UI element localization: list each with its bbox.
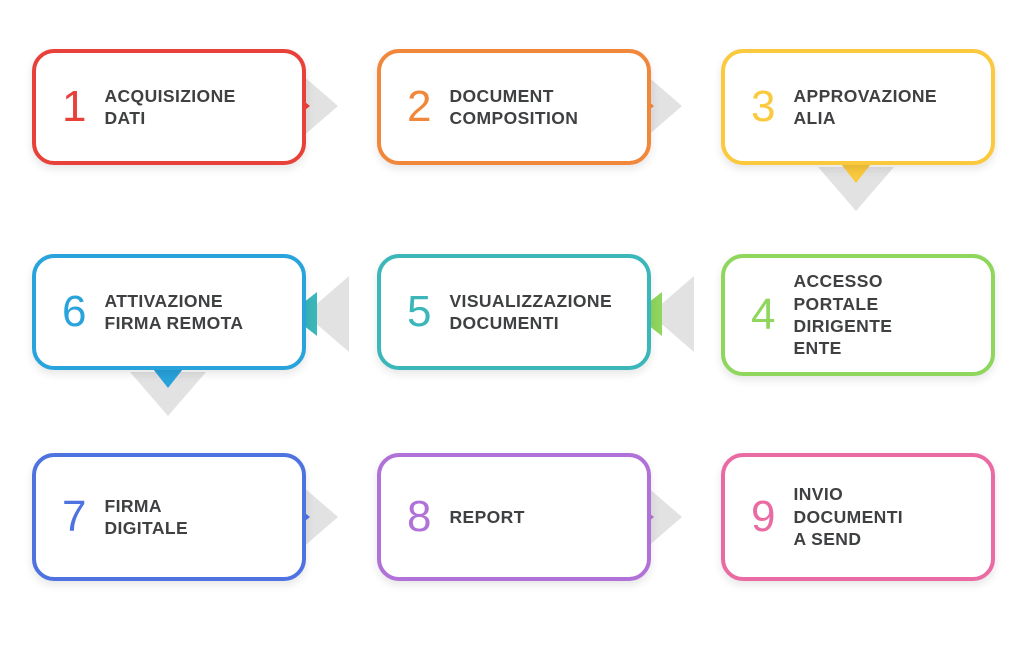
step-box-1[interactable]: 1 ACQUISIZIONE DATI — [32, 49, 306, 165]
step-number: 6 — [62, 290, 86, 334]
step-number: 5 — [407, 290, 431, 334]
step-box-7[interactable]: 7 FIRMA DIGITALE — [32, 453, 306, 581]
process-flowchart: 1 ACQUISIZIONE DATI 2 DOCUMENT COMPOSITI… — [0, 0, 1024, 652]
step-number: 3 — [751, 85, 775, 129]
step-number: 8 — [407, 495, 431, 539]
step-label: DOCUMENT COMPOSITION — [449, 85, 647, 130]
step-box-9[interactable]: 9 INVIO DOCUMENTI A SEND — [721, 453, 995, 581]
step-label: APPROVAZIONE ALIA — [793, 85, 991, 130]
step-box-2[interactable]: 2 DOCUMENT COMPOSITION — [377, 49, 651, 165]
step-label: FIRMA DIGITALE — [104, 495, 302, 540]
step-box-8[interactable]: 8 REPORT — [377, 453, 651, 581]
step-number: 2 — [407, 85, 431, 129]
step-number: 9 — [751, 495, 775, 539]
step-label: INVIO DOCUMENTI A SEND — [793, 483, 991, 550]
step-number: 1 — [62, 85, 86, 129]
step-label: ACCESSO PORTALE DIRIGENTE ENTE — [793, 270, 991, 360]
step-box-3[interactable]: 3 APPROVAZIONE ALIA — [721, 49, 995, 165]
step-label: VISUALIZZAZIONE DOCUMENTI — [449, 290, 647, 335]
step-box-5[interactable]: 5 VISUALIZZAZIONE DOCUMENTI — [377, 254, 651, 370]
step-label: REPORT — [449, 506, 647, 528]
step-label: ACQUISIZIONE DATI — [104, 85, 302, 130]
step-number: 7 — [62, 495, 86, 539]
step-number: 4 — [751, 293, 775, 337]
step-box-4[interactable]: 4 ACCESSO PORTALE DIRIGENTE ENTE — [721, 254, 995, 376]
step-box-6[interactable]: 6 ATTIVAZIONE FIRMA REMOTA — [32, 254, 306, 370]
step-label: ATTIVAZIONE FIRMA REMOTA — [104, 290, 302, 335]
